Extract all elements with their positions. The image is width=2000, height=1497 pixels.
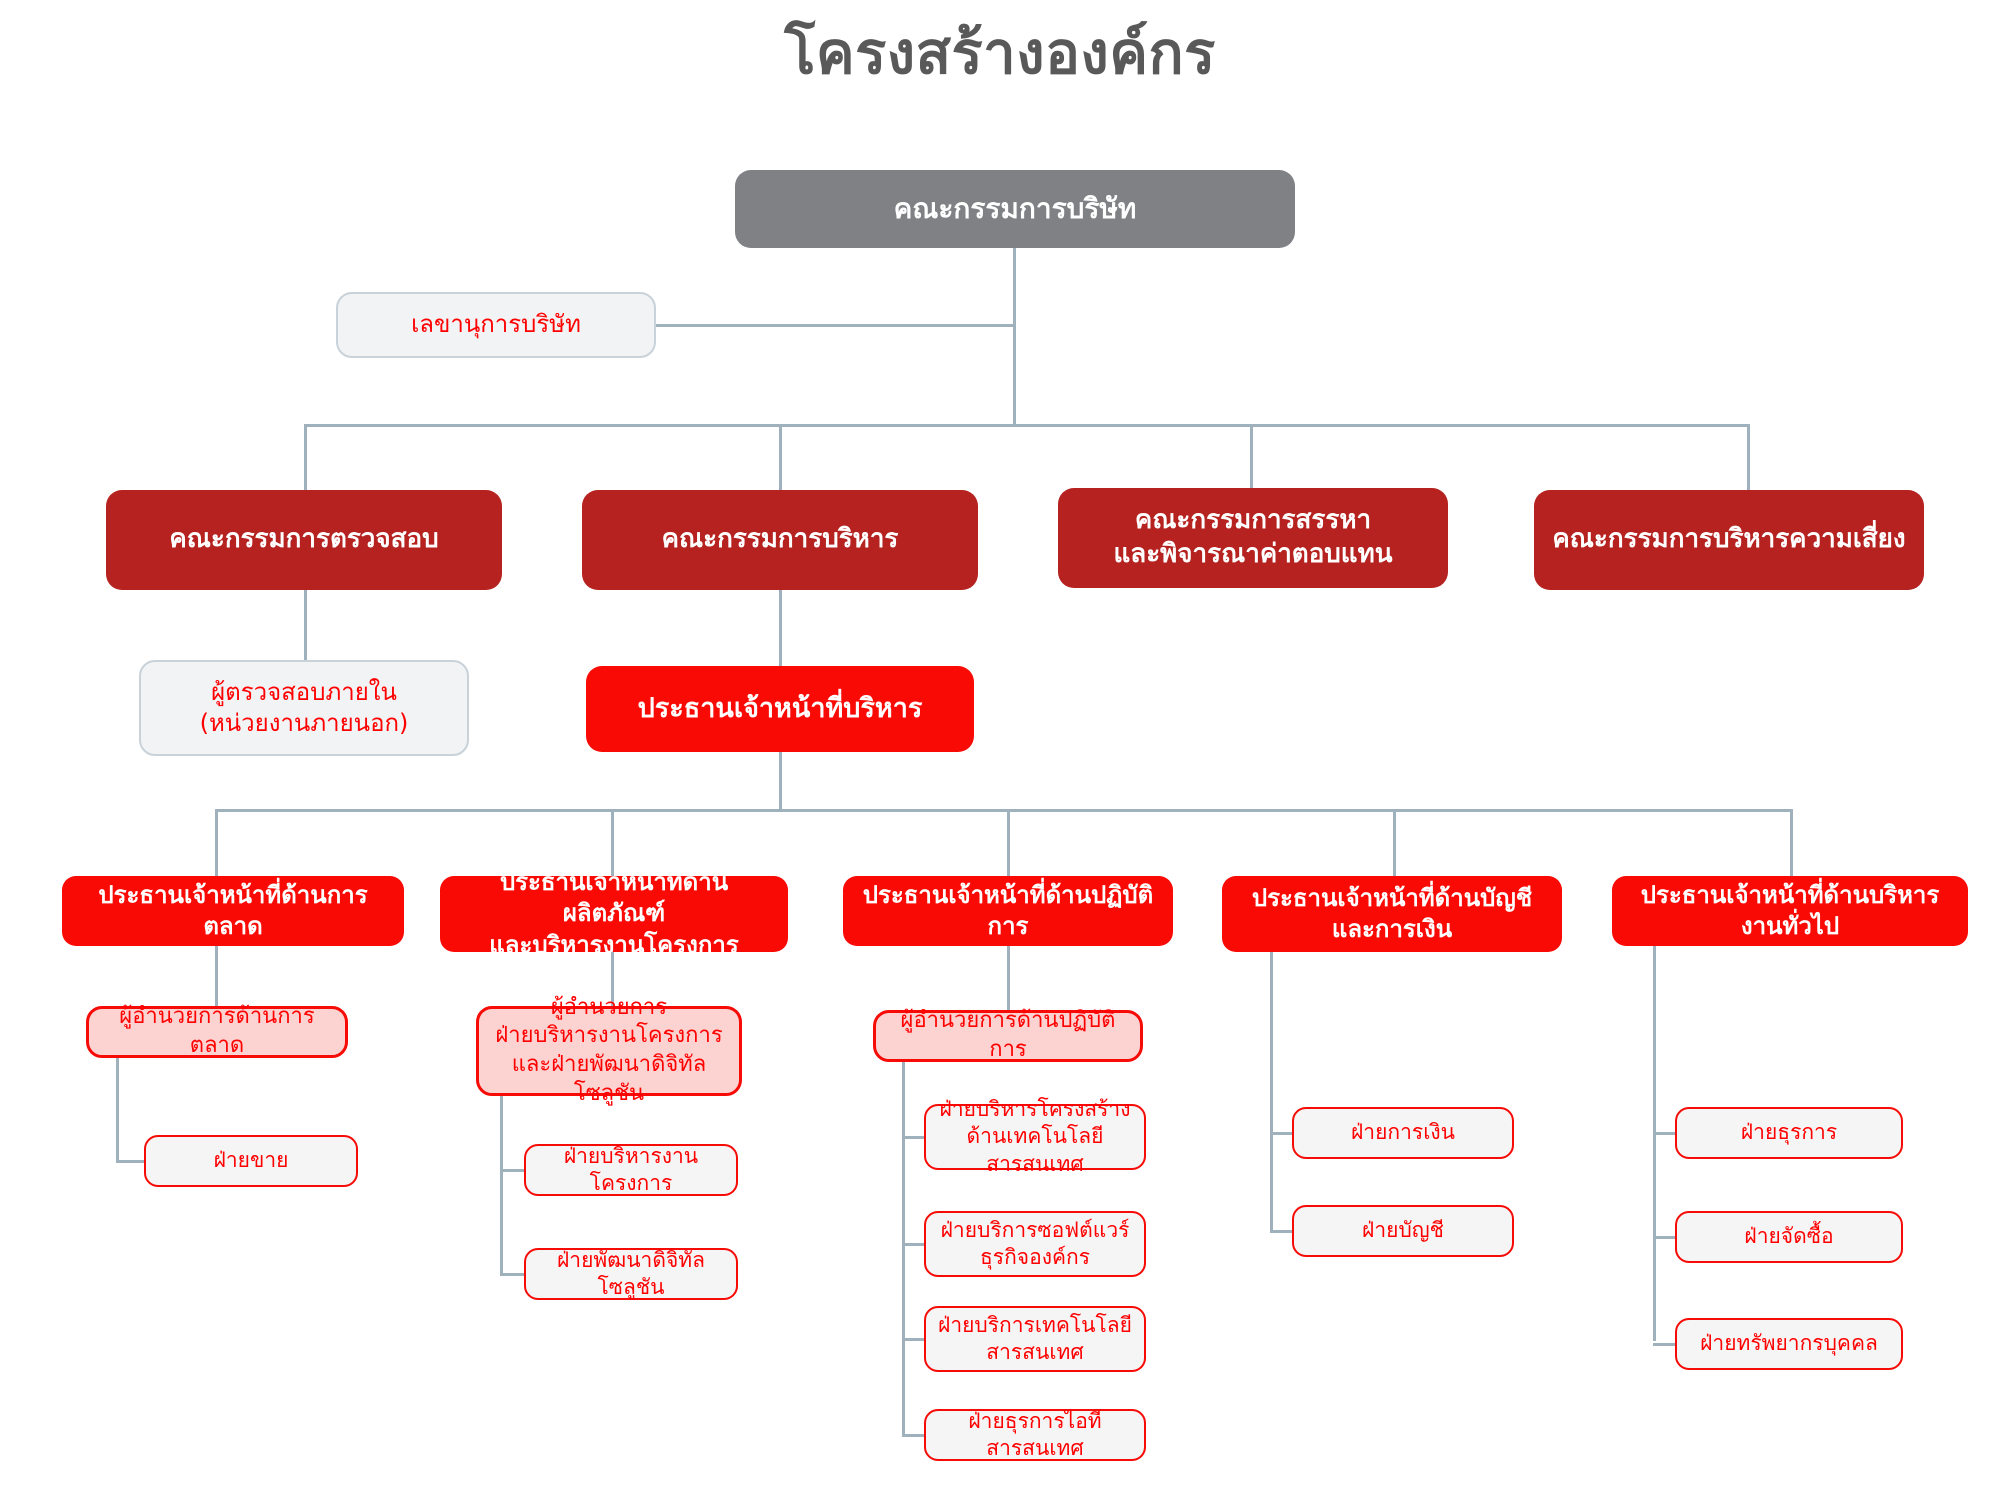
- node-chief-financial-officer[interactable]: ประธานเจ้าหน้าที่ด้านบัญชี และการเงิน: [1222, 876, 1562, 952]
- page-title: โครงสร้างองค์กร: [0, 22, 2000, 86]
- node-department-finance-label: ฝ่ายการเงิน: [1304, 1119, 1502, 1146]
- connector-secretary-link: [656, 324, 1015, 327]
- connector-operations-director-stem: [902, 1062, 905, 1437]
- node-nomination-remuneration-committee[interactable]: คณะกรรมการสรรหา และพิจารณาค่าตอบแทน: [1058, 488, 1448, 588]
- connector-committee-bus: [304, 424, 1750, 427]
- node-director-project-digital-label-line1: ผู้อำนวยการ: [489, 994, 729, 1023]
- node-department-it-service[interactable]: ฝ่ายบริการเทคโนโลยี สารสนเทศ: [924, 1306, 1146, 1372]
- node-chief-product-project-officer[interactable]: ประธานเจ้าหน้าที่ด้านผลิตภัณฑ์ และบริหาร…: [440, 876, 788, 952]
- connector-project-mgmt-elbow: [500, 1169, 524, 1172]
- node-risk-management-committee[interactable]: คณะกรรมการบริหารความเสี่ยง: [1534, 490, 1924, 590]
- node-chief-operating-officer[interactable]: ประธานเจ้าหน้าที่ด้านปฏิบัติการ: [843, 876, 1173, 946]
- node-internal-auditor[interactable]: ผู้ตรวจสอบภายใน (หน่วยงานภายนอก): [139, 660, 469, 756]
- node-board-of-directors[interactable]: คณะกรรมการบริษัท: [735, 170, 1295, 248]
- connector-enterprise-software-elbow: [902, 1243, 924, 1246]
- node-department-accounting[interactable]: ฝ่ายบัญชี: [1292, 1205, 1514, 1257]
- connector-it-infra-elbow: [902, 1136, 924, 1139]
- node-chief-marketing-officer-label: ประธานเจ้าหน้าที่ด้านการตลาด: [72, 880, 394, 942]
- node-company-secretary-label: เลขานุการบริษัท: [348, 309, 644, 340]
- connector-ceo-stem: [779, 752, 782, 809]
- connector-project-director-stem: [500, 1096, 503, 1274]
- node-chief-executive-officer[interactable]: ประธานเจ้าหน้าที่บริหาร: [586, 666, 974, 752]
- node-department-sales-label: ฝ่ายขาย: [156, 1147, 346, 1174]
- node-department-procurement-label: ฝ่ายจัดซื้อ: [1687, 1223, 1891, 1250]
- connector-drop-coo: [1007, 809, 1010, 876]
- node-director-operations[interactable]: ผู้อำนวยการด้านปฏิบัติการ: [873, 1010, 1143, 1062]
- node-director-operations-label: ผู้อำนวยการด้านปฏิบัติการ: [886, 1007, 1130, 1064]
- node-director-marketing[interactable]: ผู้อำนวยการด้านการตลาด: [86, 1006, 348, 1058]
- node-chief-financial-officer-label-line2: และการเงิน: [1232, 914, 1552, 945]
- node-director-project-digital-label-line3: และฝ่ายพัฒนาดิจิทัลโซลูชัน: [489, 1051, 729, 1108]
- node-audit-committee[interactable]: คณะกรรมการตรวจสอบ: [106, 490, 502, 590]
- connector-cfo-stem: [1270, 952, 1273, 1232]
- node-department-procurement[interactable]: ฝ่ายจัดซื้อ: [1675, 1211, 1903, 1263]
- node-department-finance[interactable]: ฝ่ายการเงิน: [1292, 1107, 1514, 1159]
- node-department-digital-solution-label: ฝ่ายพัฒนาดิจิทัลโซลูชัน: [536, 1247, 726, 1302]
- node-chief-executive-officer-label: ประธานเจ้าหน้าที่บริหาร: [596, 691, 964, 726]
- connector-drop-cfo: [1393, 809, 1396, 876]
- node-chief-administrative-officer[interactable]: ประธานเจ้าหน้าที่ด้านบริหารงานทั่วไป: [1612, 876, 1968, 946]
- node-department-it-admin-label: ฝ่ายธุรการไอทีสารสนเทศ: [936, 1408, 1134, 1463]
- connector-drop-cao: [1790, 809, 1793, 876]
- node-department-it-admin[interactable]: ฝ่ายธุรการไอทีสารสนเทศ: [924, 1409, 1146, 1461]
- connector-coo-to-director: [1007, 946, 1010, 1012]
- node-nomination-remuneration-committee-label-line1: คณะกรรมการสรรหา: [1068, 504, 1438, 538]
- node-department-digital-solution[interactable]: ฝ่ายพัฒนาดิจิทัลโซลูชัน: [524, 1248, 738, 1300]
- node-executive-committee[interactable]: คณะกรรมการบริหาร: [582, 490, 978, 590]
- org-chart: โครงสร้างองค์กร คณะกรรมการบริษัท เลขานุก…: [0, 0, 2000, 1497]
- connector-chiefs-bus: [215, 809, 1793, 812]
- node-chief-financial-officer-label-line1: ประธานเจ้าหน้าที่ด้านบัญชี: [1232, 883, 1552, 914]
- node-chief-product-project-officer-label-line1: ประธานเจ้าหน้าที่ด้านผลิตภัณฑ์: [450, 867, 778, 929]
- connector-sales-elbow: [116, 1160, 144, 1163]
- node-internal-auditor-label-line2: (หน่วยงานภายนอก): [151, 708, 457, 739]
- connector-cao-stem: [1653, 946, 1656, 1341]
- node-risk-management-committee-label: คณะกรรมการบริหารความเสี่ยง: [1544, 523, 1914, 557]
- node-department-sales[interactable]: ฝ่ายขาย: [144, 1135, 358, 1187]
- node-department-it-infrastructure[interactable]: ฝ่ายบริหารโครงสร้าง ด้านเทคโนโลยีสารสนเท…: [924, 1104, 1146, 1170]
- node-department-enterprise-software[interactable]: ฝ่ายบริการซอฟต์แวร์ ธุรกิจองค์กร: [924, 1211, 1146, 1277]
- node-company-secretary[interactable]: เลขานุการบริษัท: [336, 292, 656, 358]
- node-department-project-management[interactable]: ฝ่ายบริหารงานโครงการ: [524, 1144, 738, 1196]
- node-department-accounting-label: ฝ่ายบัญชี: [1304, 1217, 1502, 1244]
- connector-executive-to-ceo: [779, 590, 782, 666]
- node-department-it-service-label-line2: สารสนเทศ: [936, 1339, 1134, 1366]
- node-audit-committee-label: คณะกรรมการตรวจสอบ: [116, 523, 492, 557]
- node-director-project-digital[interactable]: ผู้อำนวยการ ฝ่ายบริหารงานโครงการ และฝ่าย…: [476, 1006, 742, 1096]
- connector-admin-elbow: [1653, 1132, 1675, 1135]
- connector-drop-executive: [779, 424, 782, 490]
- node-chief-operating-officer-label: ประธานเจ้าหน้าที่ด้านปฏิบัติการ: [853, 880, 1163, 942]
- node-nomination-remuneration-committee-label-line2: และพิจารณาค่าตอบแทน: [1068, 538, 1438, 572]
- connector-cmo-to-director: [215, 946, 218, 1012]
- node-director-marketing-label: ผู้อำนวยการด้านการตลาด: [99, 1003, 335, 1060]
- node-chief-administrative-officer-label: ประธานเจ้าหน้าที่ด้านบริหารงานทั่วไป: [1622, 880, 1958, 942]
- node-department-admin-label: ฝ่ายธุรการ: [1687, 1119, 1891, 1146]
- connector-board-stem: [1013, 248, 1016, 424]
- connector-marketing-director-stem: [116, 1058, 119, 1163]
- node-department-it-infrastructure-label-line1: ฝ่ายบริหารโครงสร้าง: [936, 1096, 1134, 1123]
- node-chief-marketing-officer[interactable]: ประธานเจ้าหน้าที่ด้านการตลาด: [62, 876, 404, 946]
- node-department-enterprise-software-label-line1: ฝ่ายบริการซอฟต์แวร์: [936, 1217, 1134, 1244]
- connector-drop-cmo: [215, 809, 218, 876]
- node-department-it-service-label-line1: ฝ่ายบริการเทคโนโลยี: [936, 1312, 1134, 1339]
- node-board-of-directors-label: คณะกรรมการบริษัท: [745, 191, 1285, 227]
- connector-it-service-elbow: [902, 1338, 924, 1341]
- node-department-admin[interactable]: ฝ่ายธุรการ: [1675, 1107, 1903, 1159]
- node-internal-auditor-label-line1: ผู้ตรวจสอบภายใน: [151, 677, 457, 708]
- node-department-enterprise-software-label-line2: ธุรกิจองค์กร: [936, 1244, 1134, 1271]
- connector-drop-nomination: [1250, 424, 1253, 490]
- connector-digital-solution-elbow: [500, 1273, 524, 1276]
- node-department-human-resources-label: ฝ่ายทรัพยากรบุคคล: [1687, 1330, 1891, 1357]
- node-department-project-management-label: ฝ่ายบริหารงานโครงการ: [536, 1143, 726, 1198]
- node-executive-committee-label: คณะกรรมการบริหาร: [592, 523, 968, 557]
- node-department-it-infrastructure-label-line2: ด้านเทคโนโลยีสารสนเทศ: [936, 1123, 1134, 1178]
- connector-drop-cpo: [611, 809, 614, 876]
- node-chief-product-project-officer-label-line2: และบริหารงานโครงการ: [450, 930, 778, 961]
- connector-hr-elbow: [1653, 1343, 1675, 1346]
- connector-finance-elbow: [1270, 1132, 1292, 1135]
- node-director-project-digital-label-line2: ฝ่ายบริหารงานโครงการ: [489, 1022, 729, 1051]
- connector-procurement-elbow: [1653, 1236, 1675, 1239]
- connector-drop-risk: [1747, 424, 1750, 490]
- connector-accounting-elbow: [1270, 1230, 1292, 1233]
- connector-drop-audit: [304, 424, 307, 490]
- node-department-human-resources[interactable]: ฝ่ายทรัพยากรบุคคล: [1675, 1318, 1903, 1370]
- connector-it-admin-elbow: [902, 1434, 924, 1437]
